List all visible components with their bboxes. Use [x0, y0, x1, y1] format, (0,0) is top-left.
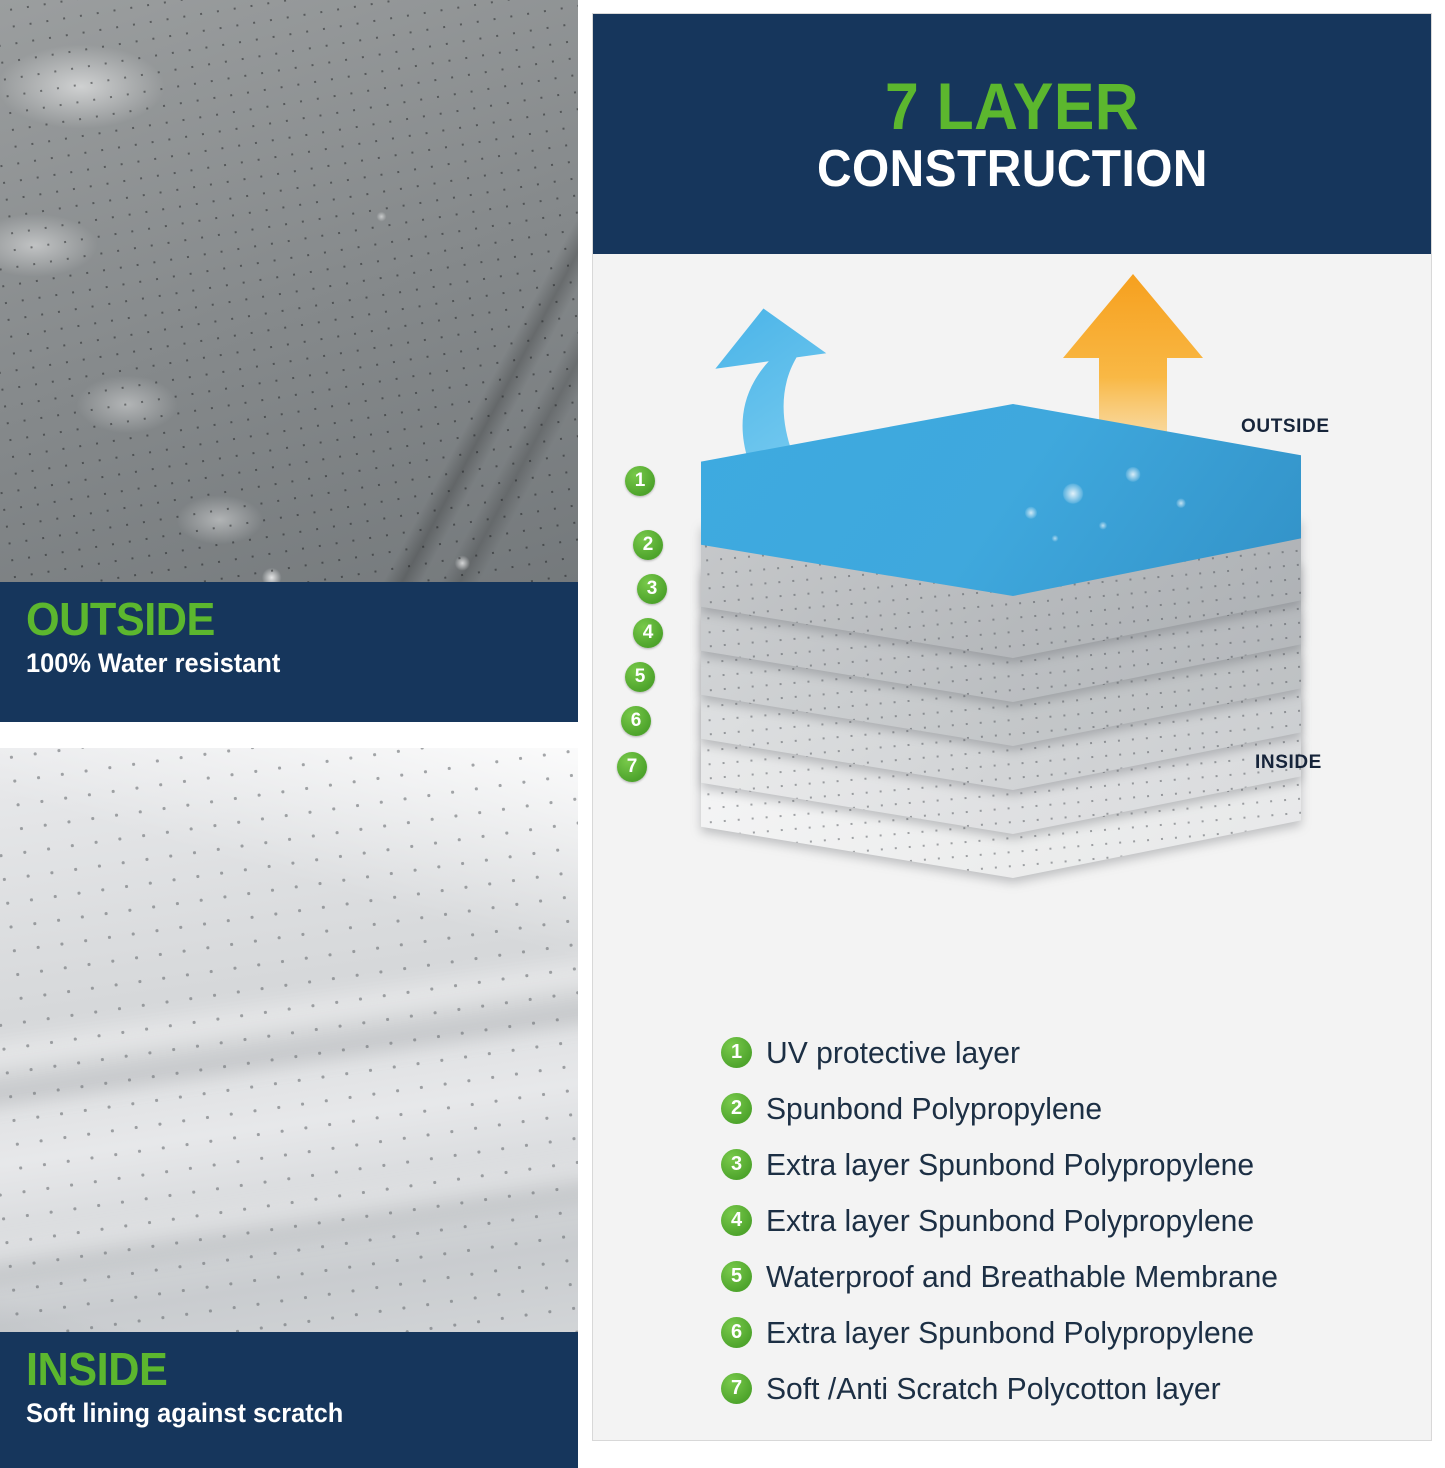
infographic-page: OUTSIDE 100% Water resistant INSIDE Soft…: [0, 0, 1445, 1468]
outside-caption-bar: OUTSIDE 100% Water resistant: [0, 582, 578, 722]
left-photo-column: OUTSIDE 100% Water resistant INSIDE Soft…: [0, 0, 578, 1468]
layer-stack-diagram: 1 2 3 4 5 6 7 OUTSIDE INSIDE: [593, 254, 1431, 1014]
layer-legend: 1 UV protective layer 2 Spunbond Polypro…: [721, 1024, 1421, 1416]
legend-badge-4: 4: [721, 1205, 752, 1236]
layer-badge-1: 1: [625, 466, 655, 496]
legend-item: 3 Extra layer Spunbond Polypropylene: [721, 1136, 1421, 1192]
legend-item: 1 UV protective layer: [721, 1024, 1421, 1080]
layer-badge-3: 3: [637, 574, 667, 604]
panel-header: 7 LAYER CONSTRUCTION: [593, 14, 1431, 254]
legend-label-7: Soft /Anti Scratch Polycotton layer: [766, 1373, 1221, 1404]
legend-badge-7: 7: [721, 1373, 752, 1404]
legend-label-4: Extra layer Spunbond Polypropylene: [766, 1205, 1254, 1236]
header-title-secondary: CONSTRUCTION: [817, 143, 1208, 195]
layer-badge-2: 2: [633, 530, 663, 560]
legend-item: 2 Spunbond Polypropylene: [721, 1080, 1421, 1136]
layer-badge-7: 7: [617, 752, 647, 782]
layer-badge-5: 5: [625, 662, 655, 692]
legend-item: 5 Waterproof and Breathable Membrane: [721, 1248, 1421, 1304]
legend-badge-3: 3: [721, 1149, 752, 1180]
legend-label-6: Extra layer Spunbond Polypropylene: [766, 1317, 1254, 1348]
legend-label-3: Extra layer Spunbond Polypropylene: [766, 1149, 1254, 1180]
diagram-outside-label: OUTSIDE: [1241, 416, 1330, 438]
legend-item: 6 Extra layer Spunbond Polypropylene: [721, 1304, 1421, 1360]
inside-photo-card: INSIDE Soft lining against scratch: [0, 748, 578, 1468]
outside-caption-title: OUTSIDE: [26, 596, 520, 644]
legend-badge-6: 6: [721, 1317, 752, 1348]
inside-caption-bar: INSIDE Soft lining against scratch: [0, 1332, 578, 1468]
layer-badge-6: 6: [621, 706, 651, 736]
header-title-primary: 7 LAYER: [885, 73, 1139, 139]
legend-item: 4 Extra layer Spunbond Polypropylene: [721, 1192, 1421, 1248]
layer-badge-4: 4: [633, 618, 663, 648]
construction-panel: 7 LAYER CONSTRUCTION: [592, 13, 1432, 1441]
legend-item: 7 Soft /Anti Scratch Polycotton layer: [721, 1360, 1421, 1416]
outside-photo-card: OUTSIDE 100% Water resistant: [0, 0, 578, 722]
diagram-inside-label: INSIDE: [1255, 752, 1322, 774]
legend-label-1: UV protective layer: [766, 1037, 1020, 1068]
legend-badge-1: 1: [721, 1037, 752, 1068]
inside-caption-title: INSIDE: [26, 1346, 520, 1394]
fabric-layer-stack: 1 2 3 4 5 6 7 OUTSIDE INSIDE: [593, 254, 1431, 1014]
inside-caption-subtitle: Soft lining against scratch: [26, 1396, 520, 1431]
legend-badge-5: 5: [721, 1261, 752, 1292]
legend-label-5: Waterproof and Breathable Membrane: [766, 1261, 1278, 1292]
outside-caption-subtitle: 100% Water resistant: [26, 646, 520, 681]
legend-label-2: Spunbond Polypropylene: [766, 1093, 1102, 1124]
legend-badge-2: 2: [721, 1093, 752, 1124]
